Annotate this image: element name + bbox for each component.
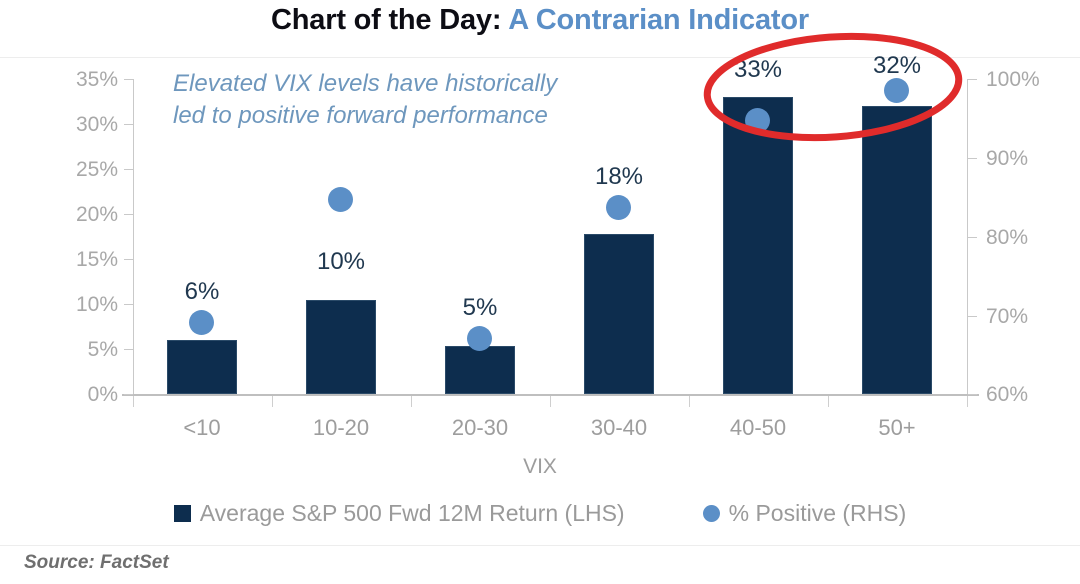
circle-marker-icon [703,505,720,522]
source-note: Source: FactSet [24,552,169,574]
left-axis-tick [124,304,133,305]
dot-10-20[interactable] [328,187,353,212]
left-axis-line [133,79,134,395]
left-axis-label-30: 30% [32,114,118,135]
left-axis-tick [124,259,133,260]
right-axis-label-90: 90% [986,148,1028,169]
right-axis-label-100: 100% [986,69,1040,90]
left-axis-label-20: 20% [32,204,118,225]
value-label-10-20: 10% [301,250,381,274]
x-label-30-40: 30-40 [574,417,664,439]
chart-annotation-text: Elevated VIX levels have historically le… [173,68,643,131]
x-label-40-50: 40-50 [713,417,803,439]
right-axis-tick [968,79,977,80]
right-axis-tick [968,394,977,395]
left-axis-tick [124,79,133,80]
legend-item-dots[interactable]: % Positive (RHS) [703,500,907,527]
chart-container: Chart of the Day:A Contrarian Indicator … [0,0,1080,584]
x-axis-tick [411,396,412,407]
dot-50plus[interactable] [884,78,909,103]
square-marker-icon [174,505,191,522]
x-axis-tick [689,396,690,407]
dot-40-50[interactable] [745,108,770,133]
x-label-lt10: <10 [162,417,242,439]
bar-lt10[interactable] [167,340,237,394]
right-axis-tick [968,316,977,317]
annotation-line-1: Elevated VIX levels have historically [173,68,643,100]
dot-20-30[interactable] [467,326,492,351]
legend-label-dots: % Positive (RHS) [729,500,907,527]
left-axis-label-15: 15% [32,249,118,270]
left-axis-tick [124,169,133,170]
left-axis-tick [124,394,133,395]
title-accent-text: A Contrarian Indicator [508,4,809,36]
legend-label-bars: Average S&P 500 Fwd 12M Return (LHS) [200,500,625,527]
left-axis-label-35: 35% [32,69,118,90]
right-axis-tick [968,158,977,159]
value-label-30-40: 18% [579,165,659,189]
legend-item-bars[interactable]: Average S&P 500 Fwd 12M Return (LHS) [174,500,625,527]
right-axis-label-70: 70% [986,306,1028,327]
bar-50plus[interactable] [862,106,932,394]
x-axis-tick [828,396,829,407]
left-axis-tick [124,124,133,125]
bar-40-50[interactable] [723,97,793,394]
dot-lt10[interactable] [189,310,214,335]
left-axis-label-5: 5% [32,339,118,360]
value-label-20-30: 5% [440,296,520,320]
x-axis-title: VIX [0,456,1080,477]
title-main-text: Chart of the Day: [271,4,501,36]
left-axis-label-25: 25% [32,159,118,180]
bar-20-30[interactable] [445,346,515,394]
x-axis-tick [967,396,968,407]
x-axis-tick [550,396,551,407]
chart-legend: Average S&P 500 Fwd 12M Return (LHS) % P… [0,500,1080,527]
page-title: Chart of the Day:A Contrarian Indicator [0,4,1080,37]
right-axis-label-80: 80% [986,227,1028,248]
dot-30-40[interactable] [606,195,631,220]
bar-30-40[interactable] [584,234,654,394]
bottom-divider [0,545,1080,546]
x-label-50plus: 50+ [857,417,937,439]
right-axis-label-60: 60% [986,384,1028,405]
x-axis-tick [272,396,273,407]
left-axis-label-10: 10% [32,294,118,315]
left-axis-tick [124,214,133,215]
left-axis-tick [124,349,133,350]
annotation-line-2: led to positive forward performance [173,100,643,132]
value-label-40-50: 33% [718,58,798,82]
x-label-10-20: 10-20 [296,417,386,439]
right-axis-tick [968,237,977,238]
value-label-50plus: 32% [857,54,937,78]
x-axis-tick [133,396,134,407]
x-label-20-30: 20-30 [435,417,525,439]
left-axis-label-0: 0% [32,384,118,405]
bar-10-20[interactable] [306,300,376,394]
value-label-lt10: 6% [162,280,242,304]
